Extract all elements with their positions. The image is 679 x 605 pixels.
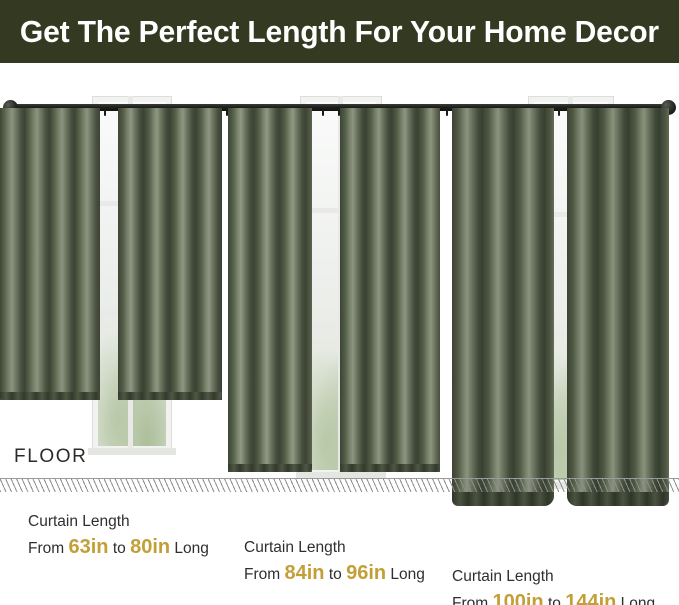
page-title: Get The Perfect Length For Your Home Dec… [20, 14, 659, 50]
window-sill [88, 448, 176, 455]
curtain-hem [452, 492, 554, 506]
caption-short-max: 80in [130, 536, 170, 558]
caption-medium-min: 84in [284, 562, 324, 584]
caption-short-middle: to [113, 540, 126, 557]
caption-long-prefix: From [452, 595, 488, 605]
header-banner: Get The Perfect Length For Your Home Dec… [0, 0, 679, 63]
caption-long-line1: Curtain Length [452, 566, 655, 588]
curtain-hem [340, 464, 440, 472]
curtain-panel-short-left [0, 108, 100, 400]
curtain-panel-short-right [118, 108, 222, 400]
caption-long-line2: From 100in to 144in Long [452, 588, 655, 605]
caption-short-min: 63in [68, 536, 108, 558]
caption-long-min: 100in [492, 591, 543, 605]
caption-medium: Curtain Length From 84in to 96in Long [244, 537, 425, 588]
curtain-scene: FLOOR Curtain Length From 63in to 80in L… [0, 63, 679, 605]
caption-medium-line1: Curtain Length [244, 537, 425, 559]
curtain-panel-long-left [452, 108, 554, 506]
curtain-panel-medium-right [340, 108, 440, 472]
caption-short-line1: Curtain Length [28, 511, 209, 533]
caption-medium-max: 96in [346, 562, 386, 584]
caption-short: Curtain Length From 63in to 80in Long [28, 511, 209, 562]
caption-short-line2: From 63in to 80in Long [28, 533, 209, 562]
caption-medium-suffix: Long [390, 566, 424, 583]
curtain-hem [0, 392, 100, 400]
caption-short-suffix: Long [174, 540, 208, 557]
floor-line [0, 478, 679, 492]
caption-long-middle: to [548, 595, 561, 605]
caption-long-suffix: Long [621, 595, 655, 605]
caption-short-prefix: From [28, 540, 64, 557]
caption-long-max: 144in [565, 591, 616, 605]
curtain-hem [118, 392, 222, 400]
caption-medium-prefix: From [244, 566, 280, 583]
curtain-hem [228, 464, 312, 472]
curtain-hem [567, 492, 669, 506]
curtain-panel-long-right [567, 108, 669, 506]
caption-medium-line2: From 84in to 96in Long [244, 559, 425, 588]
caption-long: Curtain Length From 100in to 144in Long [452, 566, 655, 605]
floor-label: FLOOR [14, 446, 87, 468]
curtain-panel-medium-left [228, 108, 312, 472]
caption-medium-middle: to [329, 566, 342, 583]
